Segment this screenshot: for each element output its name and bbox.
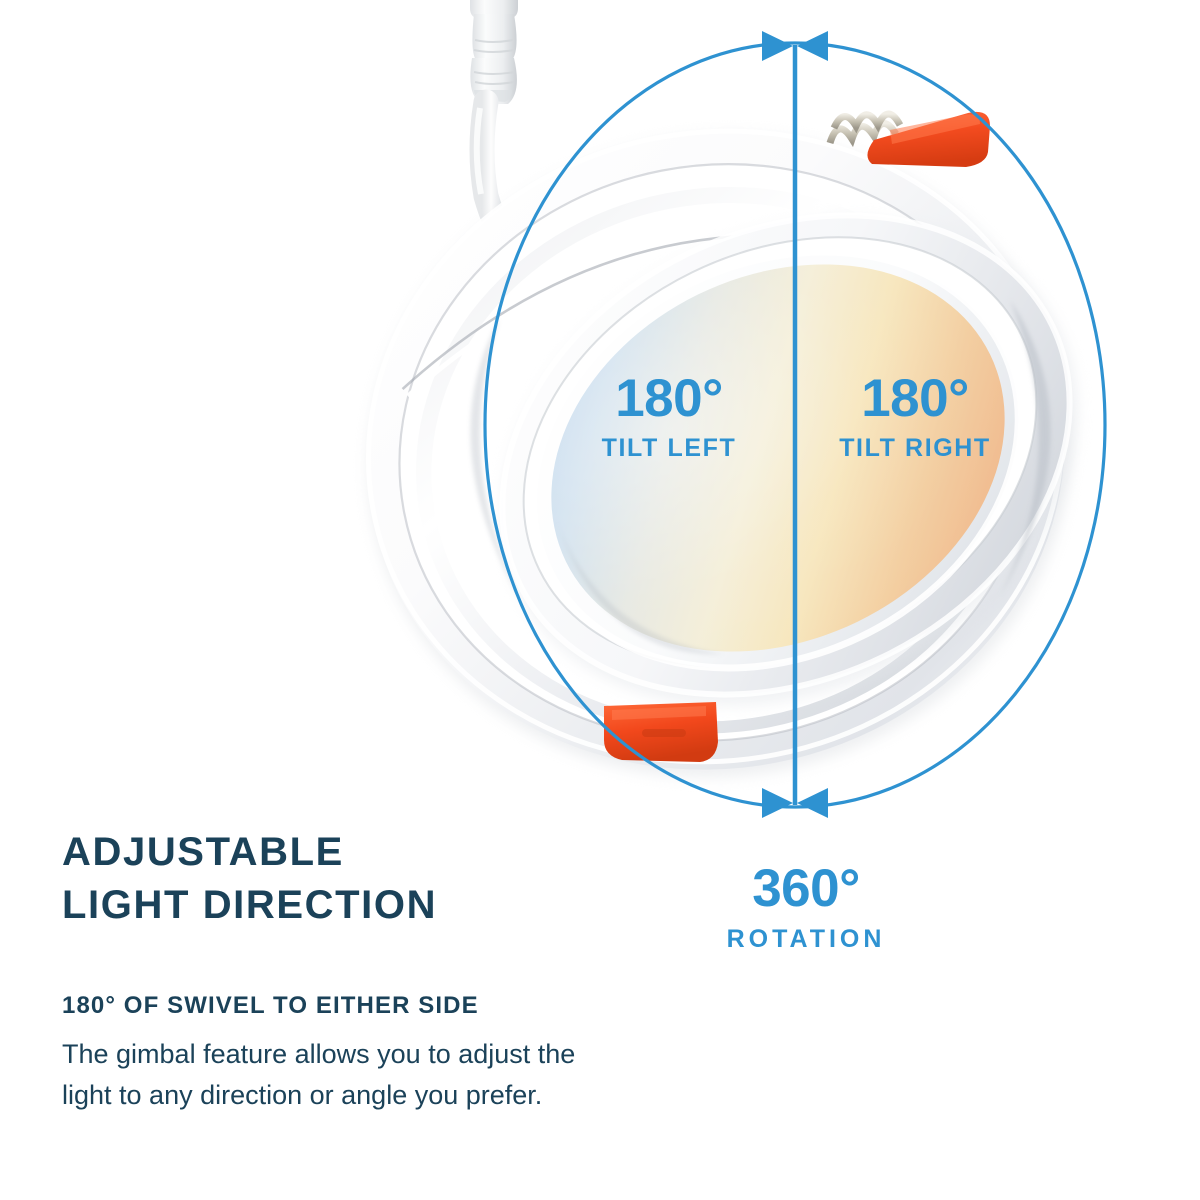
tilt-left-callout: 180° TILT LEFT [560,372,778,463]
rotation-callout: 360° ROTATION [676,862,936,954]
body-copy: The gimbal feature allows you to adjust … [62,1034,702,1116]
tilt-right-label: TILT RIGHT [806,434,1024,463]
infographic-canvas: 180° TILT LEFT 180° TILT RIGHT 360° ROTA… [0,0,1200,1200]
tilt-callout-group: 180° TILT LEFT 180° TILT RIGHT [560,372,1060,502]
headline-line-1: ADJUSTABLE [62,826,702,879]
tilt-right-degrees: 180° [806,372,1024,425]
headline-line-2: LIGHT DIRECTION [62,879,702,932]
rotation-degrees: 360° [676,862,936,915]
body-line-1: The gimbal feature allows you to adjust … [62,1034,702,1075]
sub-headline: 180° OF SWIVEL TO EITHER SIDE [62,992,702,1020]
tilt-left-label: TILT LEFT [560,434,778,463]
spring-clip-bottom [604,702,718,762]
tilt-right-callout: 180° TILT RIGHT [806,372,1024,463]
tilt-left-degrees: 180° [560,372,778,425]
headline: ADJUSTABLE LIGHT DIRECTION [62,826,702,932]
rotation-label: ROTATION [676,925,936,954]
marketing-copy-block: ADJUSTABLE LIGHT DIRECTION 180° OF SWIVE… [62,826,702,1116]
body-line-2: light to any direction or angle you pref… [62,1075,702,1116]
